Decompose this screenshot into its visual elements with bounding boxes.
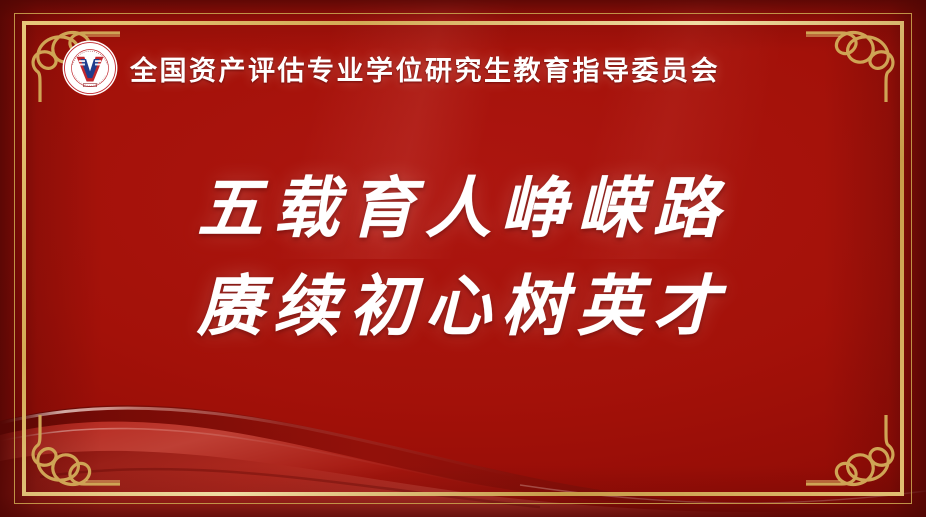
organization-name: 全国资产评估专业学位研究生教育指导委员会 [130, 49, 720, 88]
poster-canvas: 全国资产评估专业学位研究生教育指导委员会 五载育人峥嵘路 赓续初心树英才 [0, 0, 926, 517]
header: 全国资产评估专业学位研究生教育指导委员会 [62, 40, 720, 96]
cappa-committee-emblem-icon [62, 40, 118, 96]
